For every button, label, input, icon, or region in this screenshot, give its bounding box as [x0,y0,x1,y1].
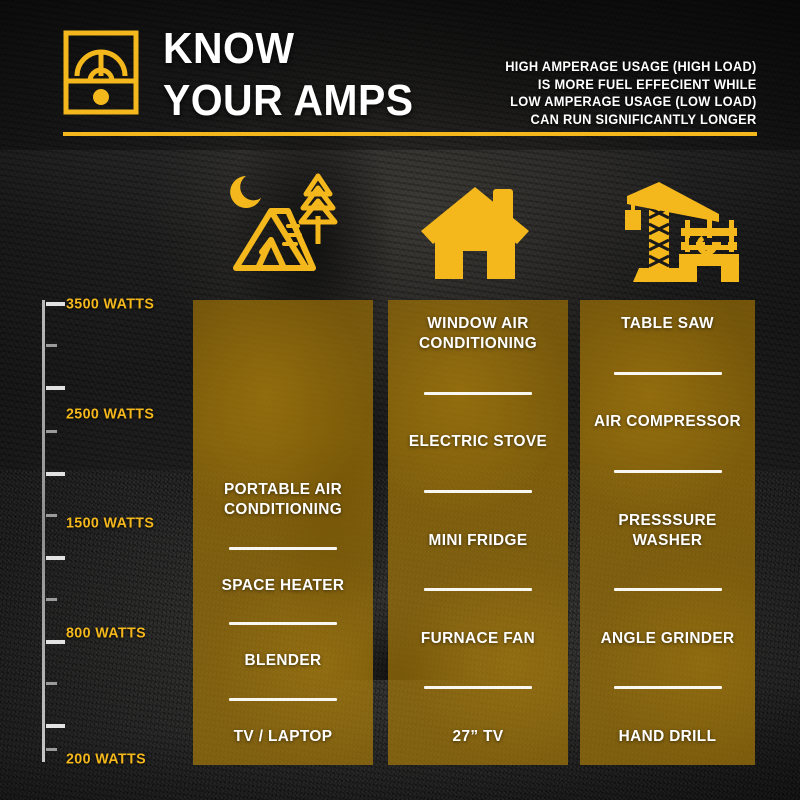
list-item: SPACE HEATER [204,576,361,596]
title-line-1: KNOW [163,26,413,72]
item-separator [424,686,532,689]
list-item: ANGLE GRINDER [591,629,744,649]
page-title: KNOW YOUR AMPS [163,26,432,124]
column-camping: PORTABLE AIR CONDITIONING SPACE HEATER B… [193,300,373,765]
column-home: WINDOW AIR CONDITIONING ELECTRIC STOVE M… [388,300,568,765]
item-separator [424,588,532,591]
tagline-line-2: IS MORE FUEL EFFECIENT WHILE [506,76,757,94]
tagline-line-3: LOW AMPERAGE USAGE (LOW LOAD) [506,93,757,111]
header-divider [63,132,757,136]
list-item: AIR COMPRESSOR [591,412,744,432]
category-icons [0,160,800,290]
item-separator [614,372,722,375]
item-separator [614,470,722,473]
list-item: BLENDER [204,651,361,671]
item-separator [229,547,337,550]
house-icon [419,185,531,280]
list-item: TV / LAPTOP [204,727,361,747]
construction-crane-icon [615,170,740,282]
list-item: TABLE SAW [591,314,744,334]
item-separator [614,588,722,591]
appliance-columns: PORTABLE AIR CONDITIONING SPACE HEATER B… [0,300,800,765]
list-item: MINI FRIDGE [399,531,556,551]
tagline-line-4: CAN RUN SIGNIFICANTLY LONGER [506,111,757,129]
list-item: FURNACE FAN [399,629,556,649]
tent-moon-tree-icon [218,168,348,278]
item-separator [424,392,532,395]
list-item: HAND DRILL [591,727,744,747]
list-item: ELECTRIC STOVE [399,432,556,452]
item-separator [229,622,337,625]
list-item: WINDOW AIR CONDITIONING [399,314,556,354]
list-item: 27” TV [399,727,556,747]
column-jobsite: TABLE SAW AIR COMPRESSOR PRESSSURE WASHE… [580,300,755,765]
list-item: PRESSSURE WASHER [591,511,744,551]
tagline: HIGH AMPERAGE USAGE (HIGH LOAD) IS MORE … [506,58,757,128]
item-separator [614,686,722,689]
header: KNOW YOUR AMPS HIGH AMPERAGE USAGE (HIGH… [0,0,800,150]
title-line-2: YOUR AMPS [163,78,413,124]
list-item: PORTABLE AIR CONDITIONING [204,480,361,520]
item-separator [229,698,337,701]
ammeter-gauge-icon [63,30,139,115]
infographic-page: KNOW YOUR AMPS HIGH AMPERAGE USAGE (HIGH… [0,0,800,800]
item-separator [424,490,532,493]
tagline-line-1: HIGH AMPERAGE USAGE (HIGH LOAD) [506,58,757,76]
